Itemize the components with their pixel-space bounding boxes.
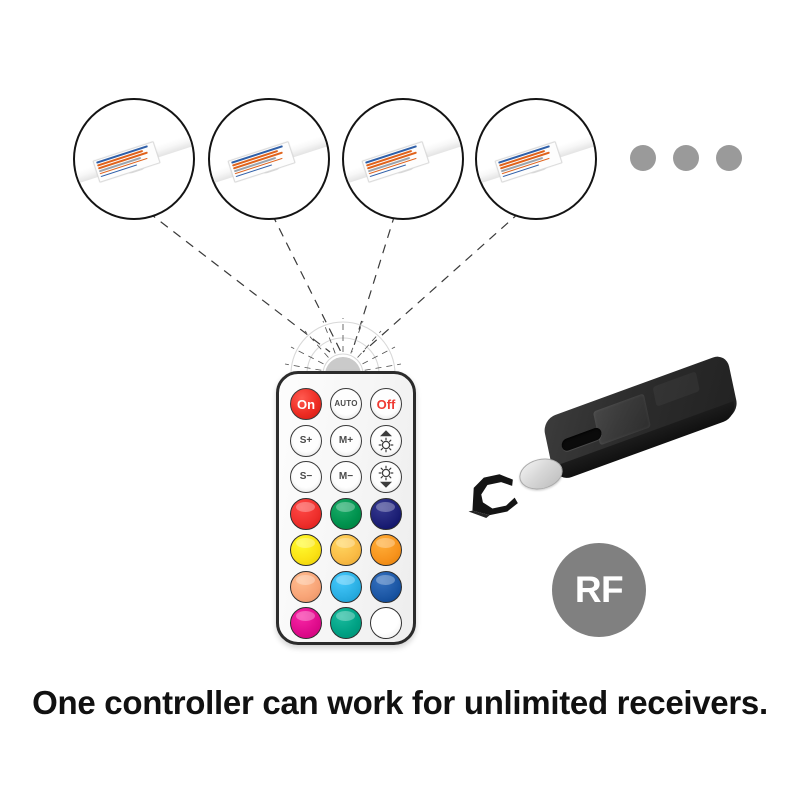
- on-button[interactable]: On: [290, 388, 322, 420]
- ellipsis-dot-1: [630, 145, 656, 171]
- auto-button[interactable]: AUTO: [330, 388, 362, 420]
- remote-button-grid: OnAUTOOffS+M+S−M−: [288, 388, 404, 639]
- speed-up-button[interactable]: S+: [290, 425, 322, 457]
- rf-badge-label: RF: [575, 569, 623, 611]
- auto-button-label: AUTO: [334, 400, 357, 408]
- speed-down-button-label: S−: [300, 472, 313, 482]
- rf-remote-control[interactable]: OnAUTOOffS+M+S−M−: [276, 371, 416, 645]
- receiver-device-2: [208, 126, 330, 192]
- color-orange-button[interactable]: [370, 534, 402, 566]
- caption-text: One controller can work for unlimited re…: [0, 684, 800, 722]
- receiver-label: [362, 141, 430, 183]
- color-yellow-button[interactable]: [290, 534, 322, 566]
- receiver-label: [93, 141, 161, 183]
- brightness-down-button[interactable]: [370, 461, 402, 493]
- color-cyan-button[interactable]: [330, 571, 362, 603]
- speed-down-button[interactable]: S−: [290, 461, 322, 493]
- color-navy-button[interactable]: [370, 498, 402, 530]
- mode-up-button-label: M+: [339, 436, 353, 446]
- receiver-callout-1: [73, 98, 195, 220]
- brightness-up-icon: [373, 428, 399, 454]
- color-blue-button[interactable]: [370, 571, 402, 603]
- speed-up-button-label: S+: [300, 436, 313, 446]
- mode-up-button[interactable]: M+: [330, 425, 362, 457]
- back-cover-panel: [652, 371, 699, 406]
- brightness-up-button[interactable]: [370, 425, 402, 457]
- color-teal-button[interactable]: [330, 607, 362, 639]
- receiver-device-3: [342, 126, 464, 192]
- receiver-device-4: [475, 126, 597, 192]
- ellipsis-dot-3: [716, 145, 742, 171]
- product-illustration-stage: OnAUTOOffS+M+S−M− RF One controller can …: [0, 0, 800, 800]
- color-magenta-button[interactable]: [290, 607, 322, 639]
- receiver-callout-3: [342, 98, 464, 220]
- mode-down-button[interactable]: M−: [330, 461, 362, 493]
- color-amber-button[interactable]: [330, 534, 362, 566]
- on-button-label: On: [297, 398, 315, 411]
- brightness-down-icon: [373, 464, 399, 490]
- receiver-callout-4: [475, 98, 597, 220]
- battery-slot: [561, 426, 603, 452]
- rf-signal-waves: [283, 318, 403, 376]
- color-red-button[interactable]: [290, 498, 322, 530]
- color-white-button[interactable]: [370, 607, 402, 639]
- rf-badge: RF: [552, 543, 646, 637]
- ellipsis-dot-2: [673, 145, 699, 171]
- mode-down-button-label: M−: [339, 472, 353, 482]
- color-green-button[interactable]: [330, 498, 362, 530]
- receiver-label: [228, 141, 296, 183]
- off-button[interactable]: Off: [370, 388, 402, 420]
- receiver-callout-2: [208, 98, 330, 220]
- color-salmon-button[interactable]: [290, 571, 322, 603]
- receiver-label: [495, 141, 563, 183]
- receiver-device-1: [73, 126, 195, 192]
- off-button-label: Off: [377, 398, 396, 411]
